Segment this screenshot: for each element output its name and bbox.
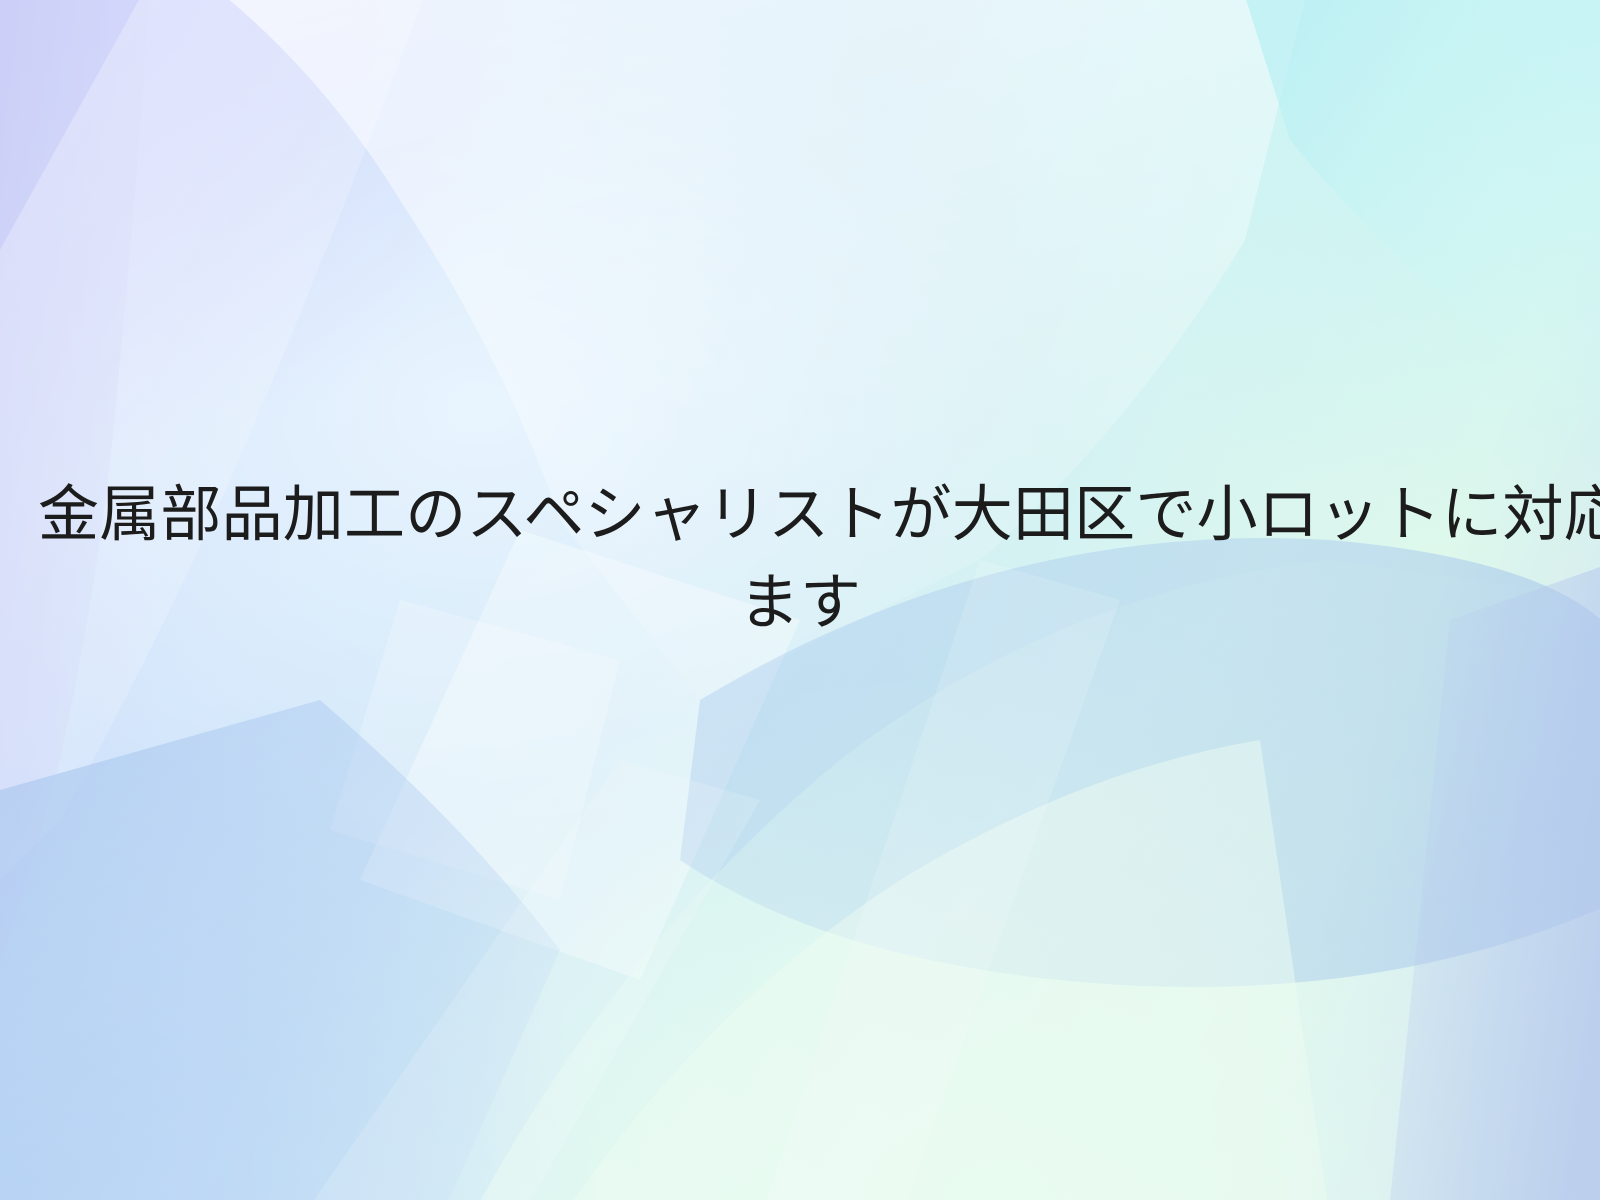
- title-line-2: ます: [38, 558, 1562, 646]
- slide-title: 金属部品加工のスペシャリストが大田区で小ロットに対応し ます: [38, 470, 1562, 646]
- top-right-aqua-sweep: [1240, 0, 1600, 430]
- slide-canvas: 金属部品加工のスペシャリストが大田区で小ロットに対応し ます: [0, 0, 1600, 1200]
- title-line-1: 金属部品加工のスペシャリストが大田区で小ロットに対応し: [38, 470, 1562, 558]
